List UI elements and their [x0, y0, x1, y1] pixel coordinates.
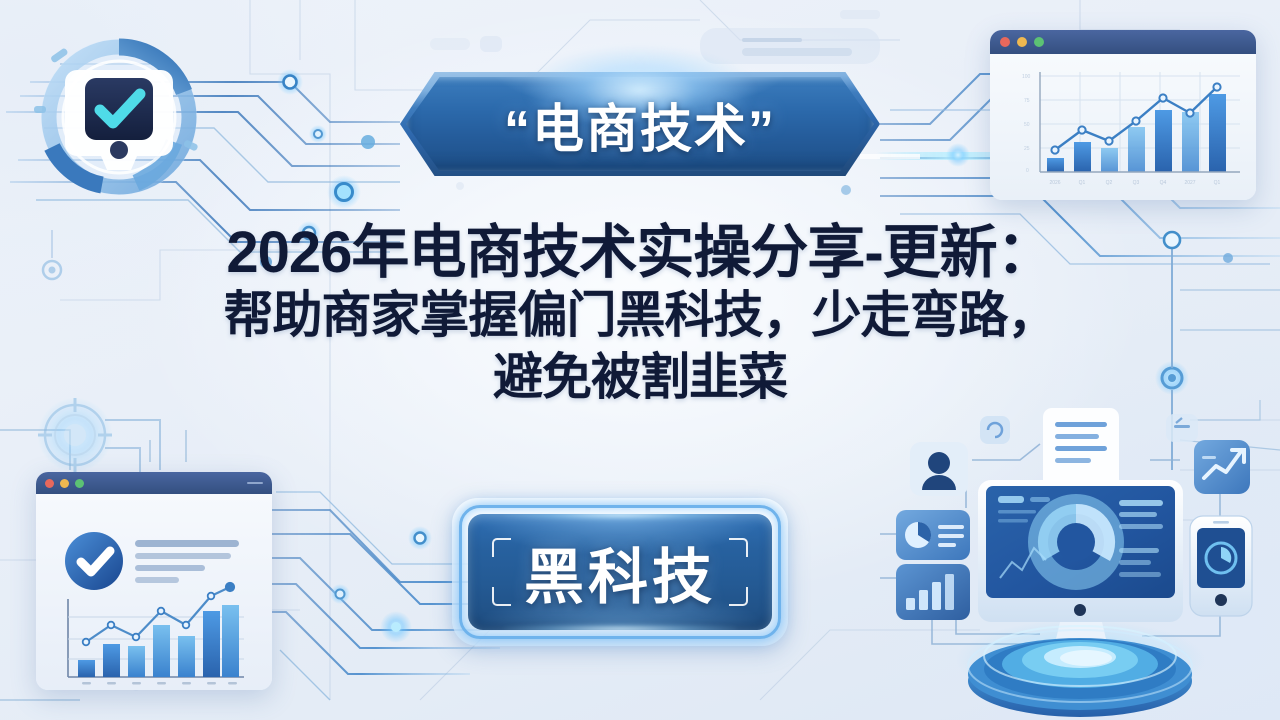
window-title-bar [990, 30, 1256, 54]
svg-text:Q1: Q1 [1214, 180, 1221, 186]
category-badge[interactable]: “电商技术” [400, 72, 880, 176]
svg-text:Q1: Q1 [1079, 180, 1086, 186]
maximize-icon[interactable] [75, 479, 84, 488]
device-dashboard-cluster [880, 398, 1280, 720]
poster-canvas: 10075 5025 0 [0, 0, 1280, 720]
glow-pedestal [968, 626, 1192, 717]
bar-chart-card [896, 564, 970, 620]
close-icon[interactable] [1000, 37, 1010, 47]
svg-text:100: 100 [1022, 74, 1031, 80]
user-avatar-card [910, 442, 968, 496]
badge-label: “电商技术” [400, 72, 880, 176]
report-browser-window[interactable] [36, 472, 272, 690]
verified-device-ring-icon [24, 22, 214, 212]
report-body [36, 494, 272, 690]
svg-text:25: 25 [1024, 146, 1030, 152]
window-menu-icon[interactable] [247, 482, 263, 484]
svg-text:Q3: Q3 [1133, 180, 1140, 186]
pie-chart-card [896, 510, 970, 560]
svg-text:2026: 2026 [1049, 180, 1060, 186]
analytics-browser-window[interactable]: 10075 5025 0 [990, 30, 1256, 200]
cta-label: 黑科技 [452, 498, 788, 646]
svg-text:2027: 2027 [1184, 180, 1195, 186]
title-line-3: 避免被割韭菜 [0, 346, 1280, 408]
close-icon[interactable] [45, 479, 54, 488]
title-line-2: 帮助商家掌握偏门黑科技，少走弯路， [0, 284, 1280, 346]
trend-chart-card [1194, 440, 1250, 494]
window-title-bar [36, 472, 272, 494]
svg-text:75: 75 [1024, 98, 1030, 104]
title-line-1: 2026年电商技术实操分享-更新： [0, 222, 1280, 284]
minimize-icon[interactable] [1017, 37, 1027, 47]
svg-text:0: 0 [1026, 168, 1029, 174]
minimize-icon[interactable] [60, 479, 69, 488]
page-title: 2026年电商技术实操分享-更新： 帮助商家掌握偏门黑科技，少走弯路， 避免被割… [0, 222, 1280, 408]
svg-text:50: 50 [1024, 122, 1030, 128]
maximize-icon[interactable] [1034, 37, 1044, 47]
analytics-chart-area: 10075 5025 0 [990, 54, 1256, 200]
smartphone [1190, 516, 1252, 616]
svg-text:Q2: Q2 [1106, 180, 1113, 186]
svg-text:Q4: Q4 [1160, 180, 1167, 186]
hei-ke-ji-button[interactable]: 黑科技 [452, 498, 788, 646]
